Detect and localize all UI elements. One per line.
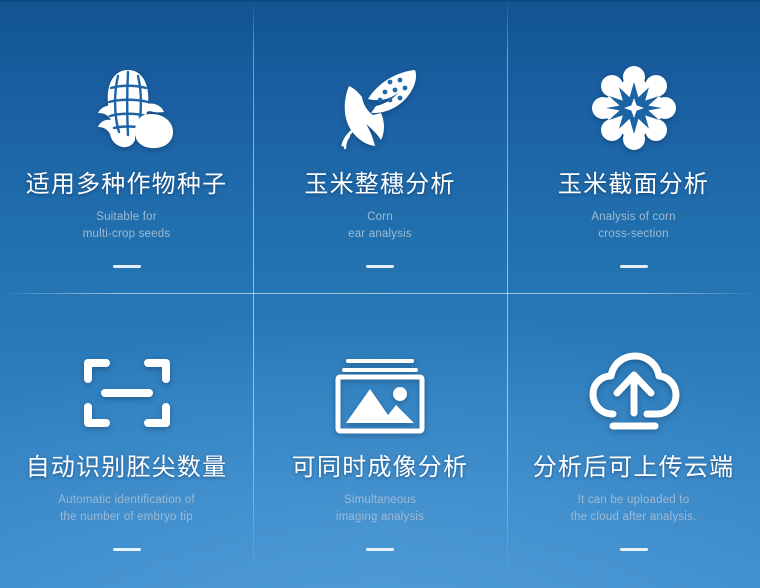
feature-subtitle-line: Suitable for [83,209,171,226]
feature-subtitle-line: Corn [348,209,412,226]
feature-subtitle-line: It can be uploaded to [571,492,697,509]
feature-grid-layout: 适用多种作物种子 Suitable for multi-crop seeds [0,0,760,588]
feature-title: 可同时成像分析 [292,455,468,481]
feature-subtitle-line: cross-section [591,226,675,243]
scan-frame-icon [80,323,174,435]
feature-cell-corn-ear-analysis[interactable]: 玉米整穗分析 Corn ear analysis [253,0,507,293]
feature-subtitle-line: imaging analysis [336,509,424,526]
feature-title: 分析后可上传云端 [533,455,735,481]
feature-subtitle: Corn ear analysis [348,209,412,243]
feature-cell-suitable-multi-crop-seeds[interactable]: 适用多种作物种子 Suitable for multi-crop seeds [0,0,253,293]
feature-underline-dash [366,265,394,268]
feature-subtitle-line: ear analysis [348,226,412,243]
feature-subtitle-line: Simultaneous [336,492,424,509]
feature-cell-simultaneous-imaging[interactable]: 可同时成像分析 Simultaneous imaging analysis [253,293,507,588]
feature-cell-embryo-tip-count[interactable]: 自动识别胚尖数量 Automatic identification of the… [0,293,253,588]
corn-ear-icon [337,38,423,150]
feature-underline-dash [113,265,141,268]
image-stack-icon [334,323,426,435]
feature-subtitle: Simultaneous imaging analysis [336,492,424,526]
feature-subtitle-line: the cloud after analysis. [571,509,697,526]
feature-title: 自动识别胚尖数量 [26,455,228,481]
feature-subtitle: Suitable for multi-crop seeds [83,209,171,243]
feature-grid: 适用多种作物种子 Suitable for multi-crop seeds [0,0,760,588]
feature-cell-corn-cross-section[interactable]: 玉米截面分析 Analysis of corn cross-section [507,0,760,293]
feature-subtitle: Analysis of corn cross-section [591,209,675,243]
feature-title: 玉米截面分析 [558,172,709,198]
feature-subtitle: It can be uploaded to the cloud after an… [571,492,697,526]
feature-underline-dash [366,548,394,551]
cloud-upload-icon [587,323,681,435]
feature-title: 适用多种作物种子 [26,172,228,198]
corn-cross-section-icon [592,38,676,150]
feature-title: 玉米整穗分析 [304,172,455,198]
feature-subtitle-line: Analysis of corn [591,209,675,226]
corn-and-seed-icon [78,38,176,150]
feature-underline-dash [113,548,141,551]
feature-subtitle-line: the number of embryo tip [58,509,194,526]
feature-subtitle-line: multi-crop seeds [83,226,171,243]
feature-underline-dash [620,548,648,551]
feature-cell-cloud-upload[interactable]: 分析后可上传云端 It can be uploaded to the cloud… [507,293,760,588]
feature-underline-dash [620,265,648,268]
feature-subtitle: Automatic identification of the number o… [58,492,194,526]
feature-subtitle-line: Automatic identification of [58,492,194,509]
